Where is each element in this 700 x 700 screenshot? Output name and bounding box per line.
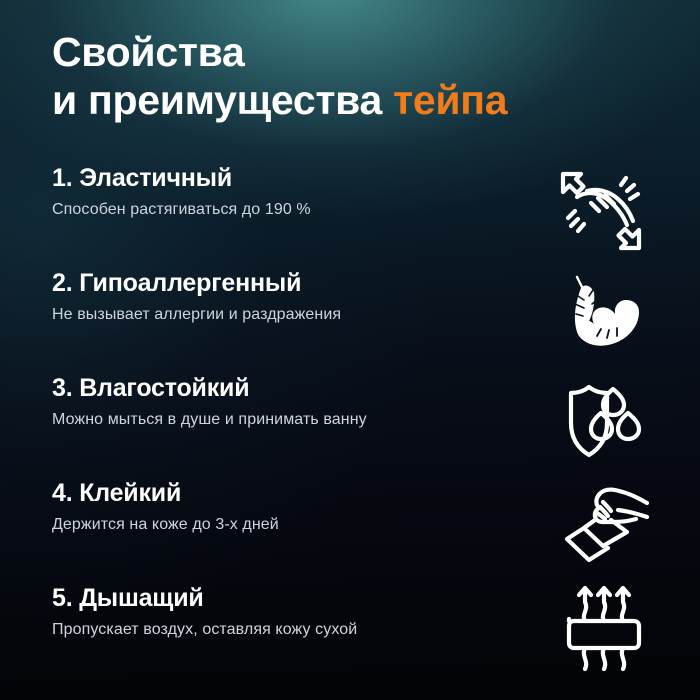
- page-title-accent: тейпа: [393, 77, 507, 123]
- list-item: 2. Гипоаллергенный Не вызывает аллергии …: [0, 268, 700, 373]
- page-title-plain: и преимущества: [52, 77, 393, 123]
- feature-text-block: 4. Клейкий Держится на коже до 3-х дней: [52, 478, 522, 535]
- breathable-airflow-icon: [548, 581, 654, 681]
- feather-icon: [548, 266, 654, 366]
- page-title-line-2: и преимущества тейпа: [52, 76, 652, 124]
- hand-applying-tape-icon: [548, 476, 654, 576]
- feature-subtitle: Можно мыться в душе и принимать ванну: [52, 410, 522, 430]
- feature-subtitle: Способен растягиваться до 190 %: [52, 200, 522, 220]
- feature-text-block: 5. Дышащий Пропускает воздух, оставляя к…: [52, 583, 522, 640]
- feature-title: 2. Гипоаллергенный: [52, 268, 522, 298]
- poster-header: Свойства и преимущества тейпа: [52, 28, 652, 124]
- feature-title: 1. Эластичный: [52, 163, 522, 193]
- feature-title: 5. Дышащий: [52, 583, 522, 613]
- feature-title: 4. Клейкий: [52, 478, 522, 508]
- feature-title: 3. Влагостойкий: [52, 373, 522, 403]
- feature-subtitle: Пропускает воздух, оставляя кожу сухой: [52, 620, 522, 640]
- stretch-arrows-icon: [548, 161, 654, 261]
- feature-list: 1. Эластичный Способен растягиваться до …: [0, 163, 700, 688]
- feature-subtitle: Держится на коже до 3-х дней: [52, 515, 522, 535]
- list-item: 4. Клейкий Держится на коже до 3-х дней: [0, 478, 700, 583]
- list-item: 5. Дышащий Пропускает воздух, оставляя к…: [0, 583, 700, 688]
- list-item: 3. Влагостойкий Можно мыться в душе и пр…: [0, 373, 700, 478]
- list-item: 1. Эластичный Способен растягиваться до …: [0, 163, 700, 268]
- feature-text-block: 1. Эластичный Способен растягиваться до …: [52, 163, 522, 220]
- page-title-line-1: Свойства: [52, 28, 652, 76]
- promo-poster: Свойства и преимущества тейпа 1. Эластич…: [0, 0, 700, 700]
- feature-text-block: 2. Гипоаллергенный Не вызывает аллергии …: [52, 268, 522, 325]
- feature-subtitle: Не вызывает аллергии и раздражения: [52, 305, 522, 325]
- shield-water-drops-icon: [548, 371, 654, 471]
- feature-text-block: 3. Влагостойкий Можно мыться в душе и пр…: [52, 373, 522, 430]
